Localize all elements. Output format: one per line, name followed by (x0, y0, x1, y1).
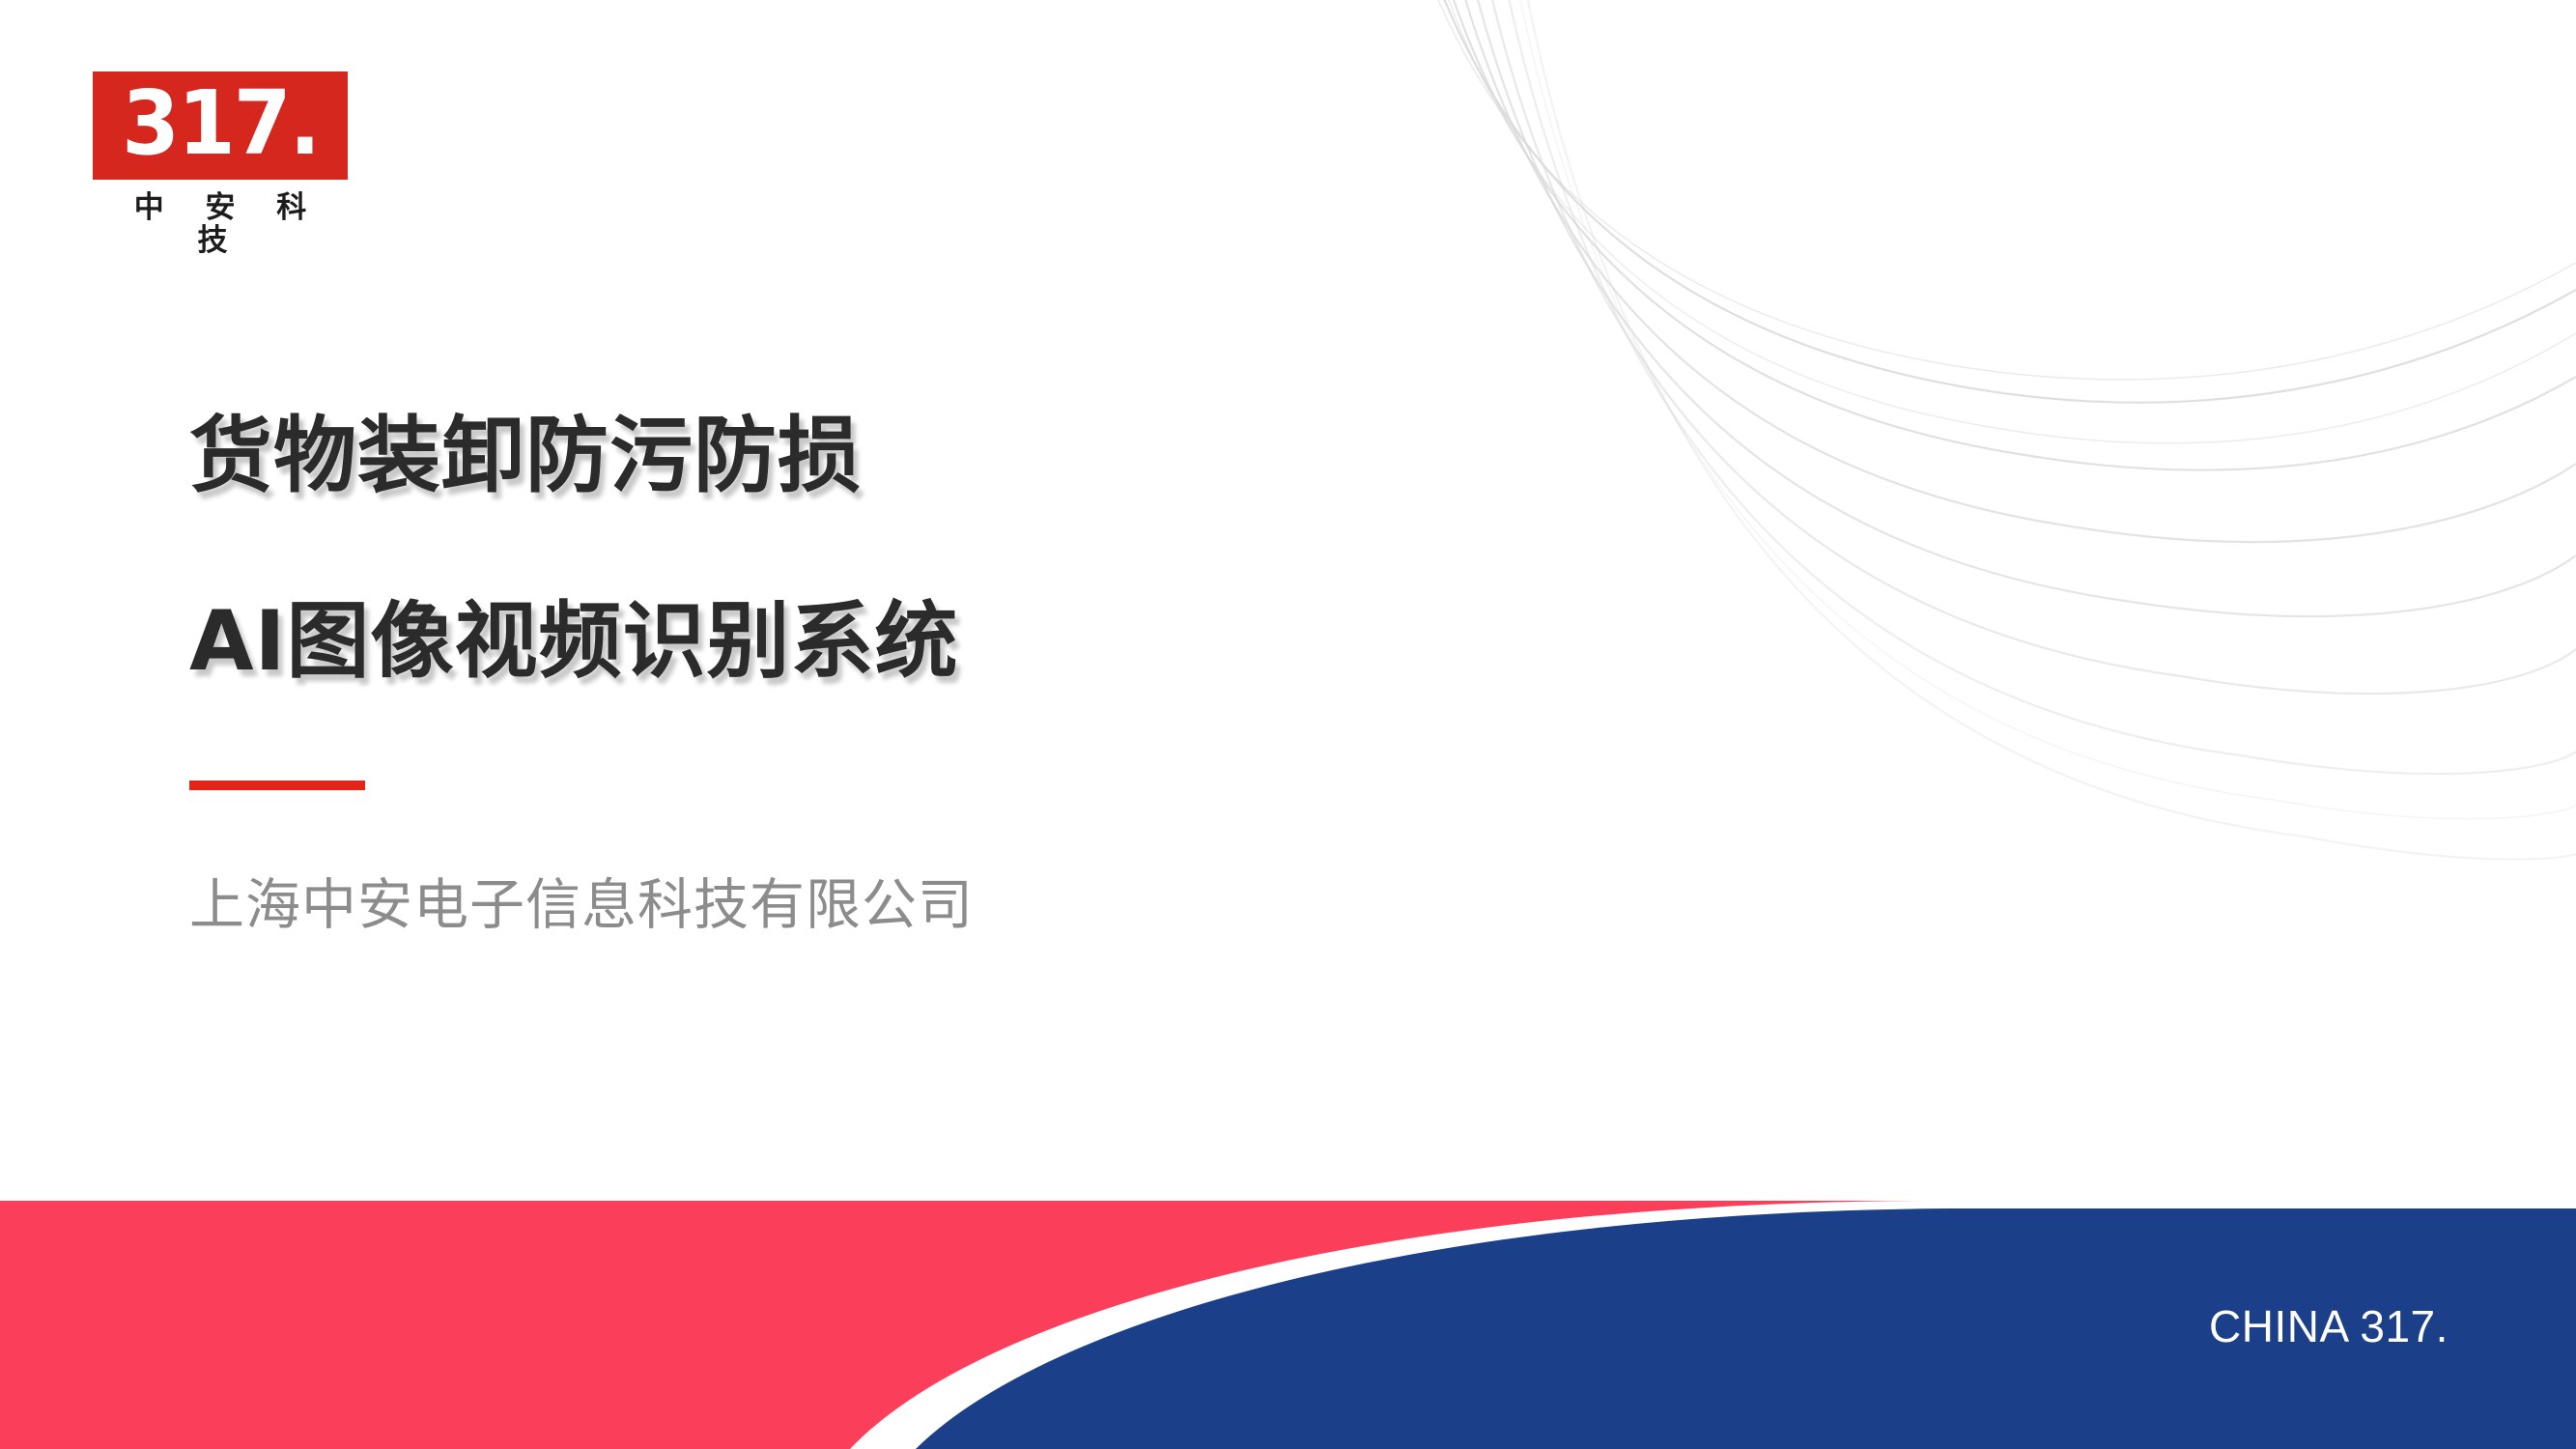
title-line-2: AI图像视频识别系统 (189, 589, 1542, 694)
banner-label: CHINA 317. (2209, 1302, 2449, 1350)
logo-mark-text: 317. (122, 79, 319, 168)
company-logo: 317. 中 安 科 技 (93, 71, 352, 257)
bottom-banner (0, 1201, 2576, 1449)
page-title: 货物装卸防污防损 AI图像视频识别系统 (189, 404, 1542, 694)
subtitle: 上海中安电子信息科技有限公司 (189, 871, 974, 939)
logo-subtext: 中 安 科 技 (93, 191, 348, 257)
accent-divider (189, 781, 365, 790)
logo-mark: 317. (93, 71, 348, 180)
title-slide: 317. 中 安 科 技 货物装卸防污防损 AI图像视频识别系统 上海中安电子信… (0, 0, 2576, 1449)
title-line-1: 货物装卸防污防损 (189, 404, 1542, 508)
banner-shapes (0, 1201, 2576, 1449)
